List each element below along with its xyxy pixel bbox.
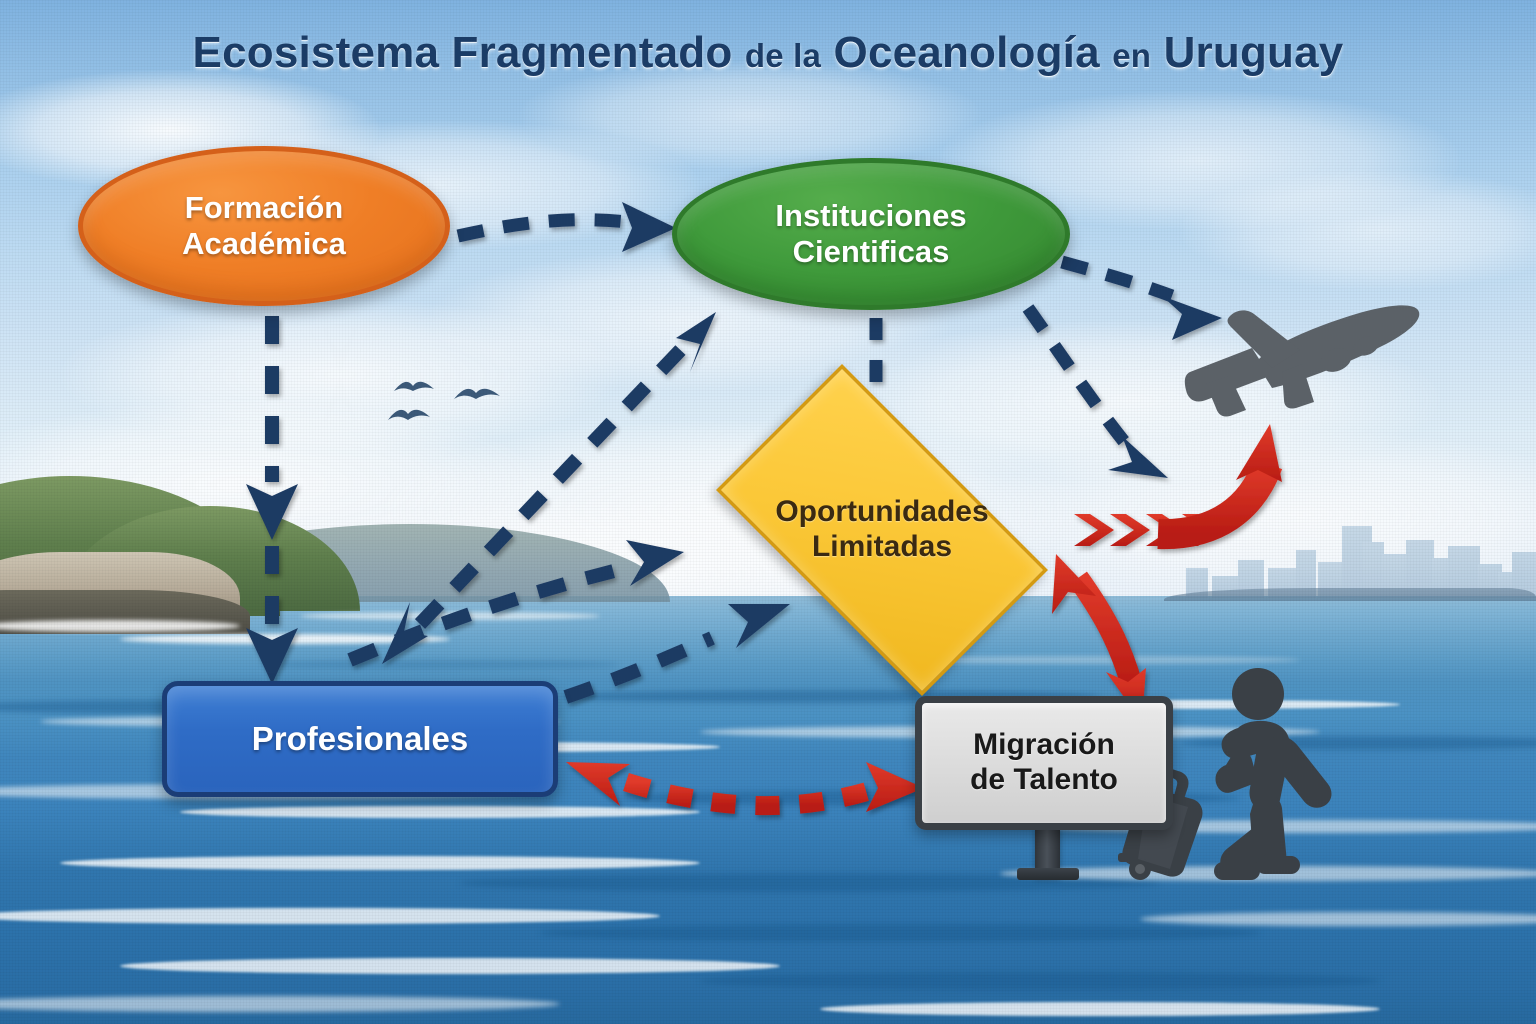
edge-formacion-to-profesionales: [246, 316, 298, 684]
sign-base: [1017, 868, 1079, 880]
edge-profesionales-to-instituciones: [382, 312, 716, 664]
node-label-line1: Profesionales: [252, 720, 468, 758]
diagram-canvas: Ecosistema Fragmentado de la Oceanología…: [0, 0, 1536, 1024]
node-profesionales[interactable]: Profesionales: [162, 681, 558, 797]
node-label-line2: Limitadas: [775, 530, 988, 565]
node-instituciones-cientificas[interactable]: Instituciones Cientificas: [672, 158, 1070, 310]
airplane-icon: [1160, 276, 1428, 422]
edge-formacion-to-instituciones: [458, 202, 676, 252]
node-label-line2: Académica: [182, 226, 346, 262]
traveler-icon: [1188, 666, 1336, 882]
node-label-line1: Migración: [970, 728, 1118, 763]
node-formacion-academica[interactable]: Formación Académica: [78, 146, 450, 306]
node-label-line1: Instituciones: [775, 198, 966, 234]
node-label-line2: Cientificas: [775, 234, 966, 270]
node-label-line1: Formación: [182, 190, 346, 226]
node-label-line2: de Talento: [970, 763, 1118, 798]
node-oportunidades-limitadas[interactable]: Oportunidades Limitadas: [676, 404, 1088, 656]
node-migracion-de-talento[interactable]: Migración de Talento: [915, 696, 1173, 830]
node-label-line1: Oportunidades: [775, 495, 988, 530]
edge-profesionales-to-migracion: [566, 762, 924, 812]
edge-profesionales-to-oportunidades-upper: [350, 540, 684, 660]
edge-oportunidades-to-avion: [1074, 424, 1282, 546]
